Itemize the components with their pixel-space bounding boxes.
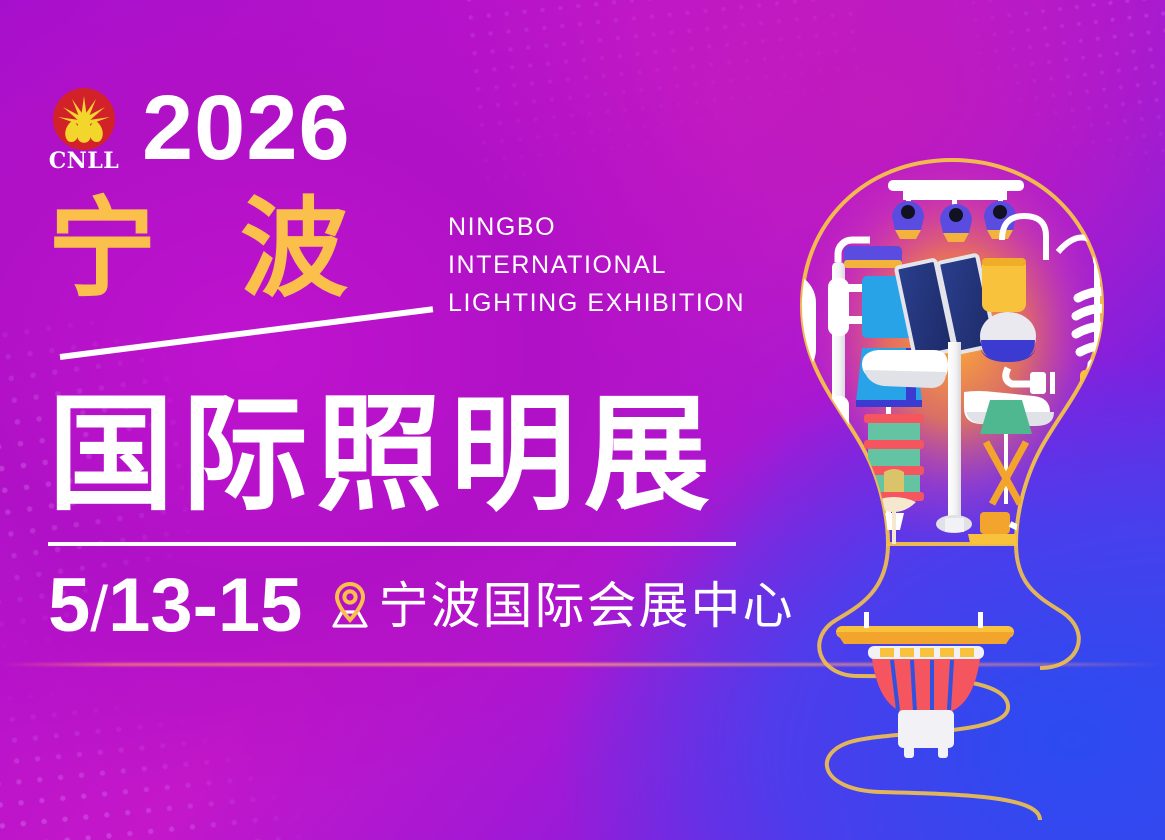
svg-text:CNLL: CNLL: [49, 148, 120, 174]
small-hanging-lamp: [818, 492, 852, 606]
english-line-2: INTERNATIONAL: [448, 246, 745, 284]
horizontal-divider: [48, 542, 736, 546]
map-pin-icon: [328, 578, 372, 635]
exhibition-banner: CNLL 2026 宁波 NINGBO INTERNATIONAL LIGHTI…: [0, 0, 1165, 840]
page-title: 国际照明展: [48, 392, 718, 518]
date-label: 5/13-15: [48, 568, 302, 644]
year-label: 2026: [142, 82, 351, 174]
english-line-3: LIGHTING EXHIBITION: [448, 284, 745, 322]
diagonal-divider: [60, 330, 438, 386]
light-bulb-illustration: [740, 120, 1165, 840]
date-and-venue-row: 5/13-15 宁波国际会展中心: [48, 568, 794, 644]
logo-and-year-row: CNLL 2026: [48, 86, 351, 176]
bulb-filament-tail-right: [1016, 544, 1079, 668]
date-month: 5: [48, 563, 90, 648]
gu10-reflector-bulb: [868, 646, 984, 758]
green-lantern: [864, 414, 924, 501]
dome-lamp-blue: [980, 312, 1036, 362]
date-days: 13-15: [108, 563, 302, 648]
cnll-flower-logo-icon: CNLL: [48, 86, 120, 176]
venue-label: 宁波国际会展中心: [378, 581, 794, 631]
banner-text-content: CNLL 2026 宁波 NINGBO INTERNATIONAL LIGHTI…: [0, 0, 780, 840]
linear-batten-light: [836, 612, 1014, 644]
date-separator: /: [90, 573, 108, 645]
english-line-1: NINGBO: [448, 208, 745, 246]
city-name-chinese: 宁波: [48, 196, 432, 304]
city-and-english-row: 宁波 NINGBO INTERNATIONAL LIGHTING EXHIBIT…: [48, 196, 748, 316]
english-title-block: NINGBO INTERNATIONAL LIGHTING EXHIBITION: [448, 208, 745, 322]
led-corn-bulb: [754, 272, 816, 406]
desk-lamp-orange: [968, 512, 1053, 589]
